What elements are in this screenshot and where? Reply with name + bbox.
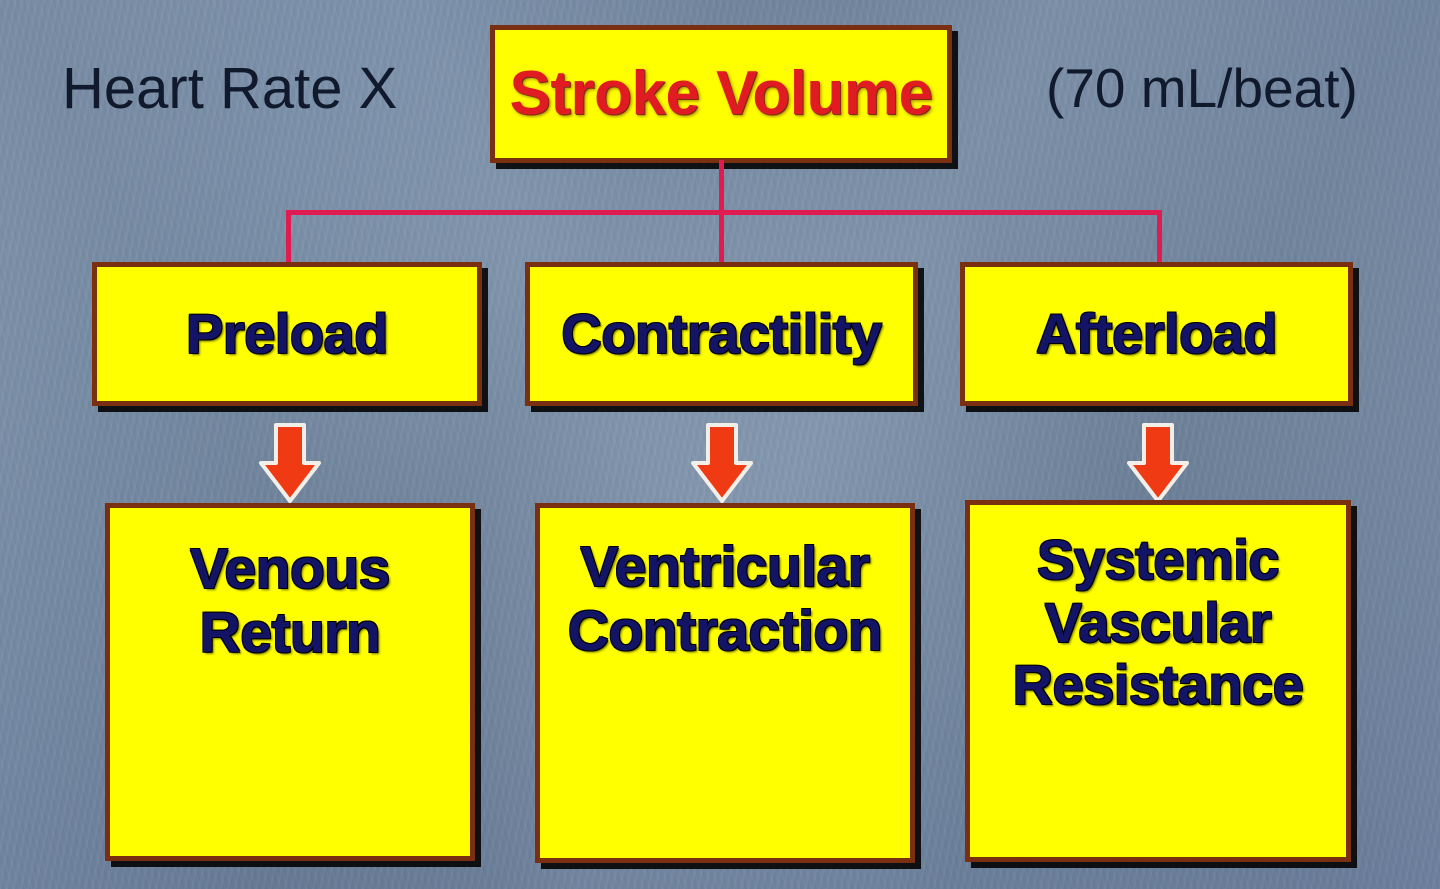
box-ventricular-contraction[interactable]: Ventricular Contraction	[535, 503, 915, 863]
box-systemic-vascular-resistance-inner: Systemic Vascular Resistance	[970, 505, 1346, 717]
box-systemic-vascular-resistance-line-1: Systemic	[976, 529, 1340, 592]
box-systemic-vascular-resistance[interactable]: Systemic Vascular Resistance	[965, 500, 1351, 862]
box-preload[interactable]: Preload	[92, 262, 482, 406]
box-ventricular-contraction-line-2: Contraction	[546, 600, 904, 664]
arrow-down-icon	[258, 423, 322, 503]
box-systemic-vascular-resistance-line-3: Resistance	[976, 654, 1340, 717]
connector-drop-right	[1157, 210, 1162, 265]
box-contractility-inner: Contractility	[530, 303, 913, 366]
box-venous-return-inner: Venous Return	[110, 508, 470, 666]
box-afterload-inner: Afterload	[965, 303, 1348, 366]
arrow-down-icon	[690, 423, 754, 503]
heart-rate-label: Heart Rate X	[62, 55, 397, 122]
arrow-down-icon	[1126, 423, 1190, 503]
diagram-canvas: Heart Rate X (70 mL/beat) Stroke Volume …	[0, 0, 1440, 889]
stroke-volume-value-label: (70 mL/beat)	[1046, 56, 1358, 120]
box-stroke-volume-title: Stroke Volume	[501, 59, 941, 128]
box-preload-title: Preload	[103, 303, 471, 366]
box-preload-inner: Preload	[97, 303, 477, 366]
connector-horizontal-bar	[286, 210, 1162, 215]
box-ventricular-contraction-inner: Ventricular Contraction	[540, 508, 910, 664]
box-venous-return-line-2: Return	[116, 602, 464, 666]
box-stroke-volume[interactable]: Stroke Volume	[490, 25, 952, 163]
box-stroke-volume-inner: Stroke Volume	[495, 59, 947, 128]
box-ventricular-contraction-line-1: Ventricular	[546, 536, 904, 600]
box-contractility[interactable]: Contractility	[525, 262, 918, 406]
box-venous-return[interactable]: Venous Return	[105, 503, 475, 861]
box-afterload-title: Afterload	[971, 303, 1342, 366]
box-systemic-vascular-resistance-line-2: Vascular	[976, 592, 1340, 655]
box-contractility-title: Contractility	[536, 303, 907, 366]
box-venous-return-line-1: Venous	[116, 538, 464, 602]
box-afterload[interactable]: Afterload	[960, 262, 1353, 406]
connector-drop-left	[286, 210, 291, 265]
